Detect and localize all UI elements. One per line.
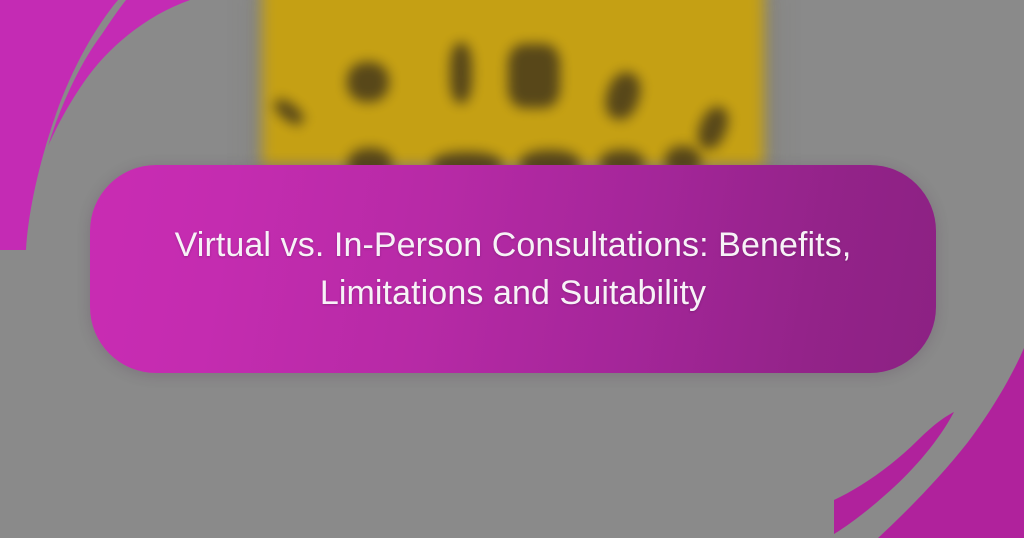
handwriting-stroke [508,44,560,108]
title-banner: Virtual vs. In-Person Consultations: Ben… [90,165,936,373]
handwriting-stroke [347,62,389,102]
page-title: Virtual vs. In-Person Consultations: Ben… [163,221,863,318]
featured-image-canvas: Virtual vs. In-Person Consultations: Ben… [0,0,1024,538]
handwriting-stroke [450,43,472,103]
